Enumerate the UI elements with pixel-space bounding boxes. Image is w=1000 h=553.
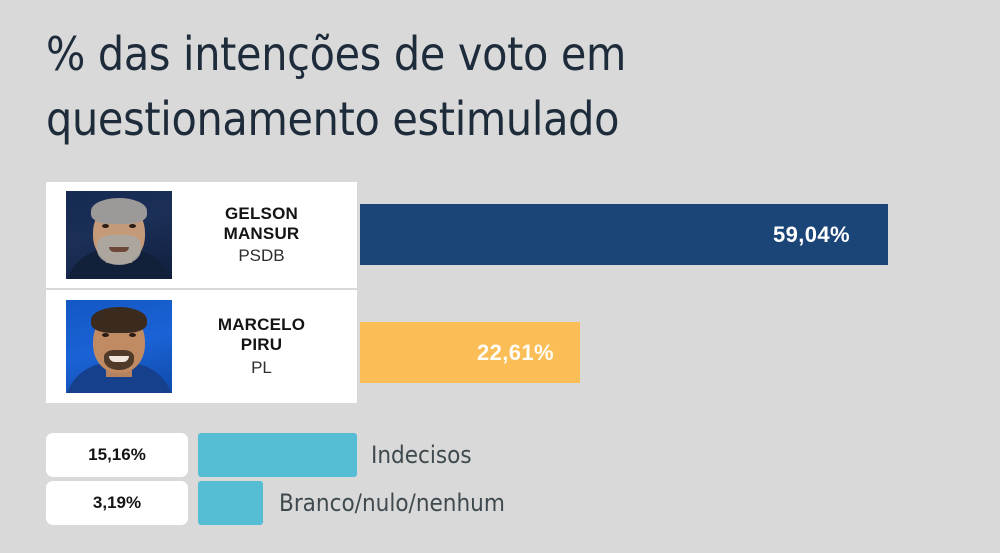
- portrait-hair: [91, 198, 147, 224]
- minor-value-chip: 15,16%: [46, 433, 188, 477]
- minor-label: Indecisos: [371, 441, 472, 469]
- candidate-name-line1: MARCELO: [176, 315, 347, 335]
- candidate-info: GELSON MANSUR PSDB: [172, 204, 357, 266]
- candidate-photo: [66, 300, 172, 393]
- minor-row: 15,16% Indecisos: [0, 433, 1000, 477]
- candidate-row: GELSON MANSUR PSDB 59,04%: [0, 182, 1000, 288]
- poll-chart: % das intenções de voto em questionament…: [0, 0, 1000, 553]
- minor-label: Branco/nulo/nenhum: [279, 489, 505, 517]
- portrait-graphic: [66, 300, 172, 393]
- candidate-party: PSDB: [176, 246, 347, 266]
- candidate-bar: 59,04%: [360, 204, 888, 265]
- portrait-mouth: [109, 247, 129, 252]
- portrait-eye-left: [102, 333, 109, 337]
- candidate-card: MARCELO PIRU PL: [46, 290, 357, 403]
- minor-bar: [198, 433, 357, 477]
- candidate-card: GELSON MANSUR PSDB: [46, 182, 357, 288]
- chart-title: % das intenções de voto em questionament…: [46, 22, 786, 153]
- portrait-graphic: [66, 191, 172, 279]
- portrait-mouth: [109, 356, 129, 362]
- bar-value-label: 59,04%: [773, 222, 850, 248]
- minor-value-chip: 3,19%: [46, 481, 188, 525]
- portrait-eye-right: [129, 224, 136, 228]
- minor-row: 3,19% Branco/nulo/nenhum: [0, 481, 1000, 525]
- portrait-eye-left: [102, 224, 109, 228]
- candidate-name-line1: GELSON: [176, 204, 347, 224]
- candidate-name-line2: MANSUR: [176, 224, 347, 244]
- portrait-eye-right: [129, 333, 136, 337]
- candidate-photo: [66, 191, 172, 279]
- candidate-bar: 22,61%: [360, 322, 580, 383]
- candidate-party: PL: [176, 358, 347, 378]
- portrait-hair: [91, 307, 147, 333]
- minor-bar: [198, 481, 263, 525]
- bar-value-label: 22,61%: [477, 340, 554, 366]
- candidate-name-line2: PIRU: [176, 335, 347, 355]
- candidate-info: MARCELO PIRU PL: [172, 315, 357, 377]
- candidate-row: MARCELO PIRU PL 22,61%: [0, 290, 1000, 403]
